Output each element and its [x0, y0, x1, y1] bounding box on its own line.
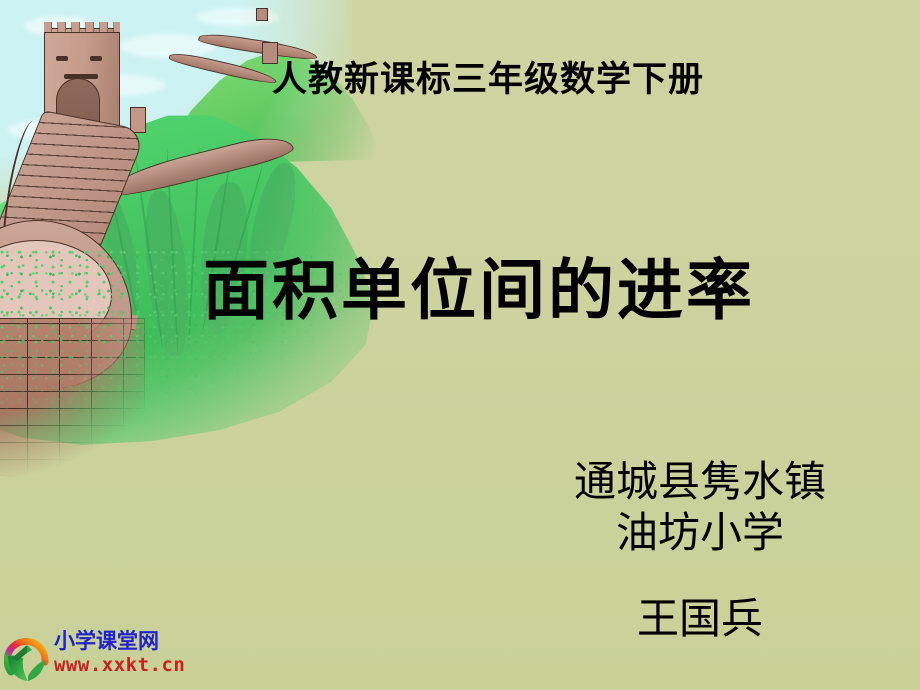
bastion-brick-wall	[0, 318, 145, 478]
watermark-site-name: 小学课堂网	[54, 628, 202, 654]
tower-window	[90, 56, 102, 61]
distant-watchtower	[256, 8, 268, 21]
credits-block: 通城县隽水镇 油坊小学 王国兵	[500, 456, 900, 645]
credit-author-name: 王国兵	[500, 594, 900, 644]
slide-main-title: 面积单位间的进率	[203, 256, 755, 325]
watermark-url: www.xxkt.cn	[54, 654, 202, 677]
course-header-title: 人教新课标三年级数学下册	[272, 62, 704, 99]
watermark-text: 小学课堂网 www.xxkt.cn	[54, 628, 202, 677]
credit-school-name: 油坊小学	[500, 507, 900, 558]
site-watermark: 小学课堂网 www.xxkt.cn	[2, 628, 202, 686]
tower-window	[56, 56, 68, 61]
credit-school-town: 通城县隽水镇	[500, 456, 900, 507]
rainbow-arc-leaf-logo-icon	[4, 630, 52, 682]
presentation-slide: 人教新课标三年级数学下册 面积单位间的进率 通城县隽水镇 油坊小学 王国兵	[0, 0, 920, 690]
tower-battlement-outline	[44, 22, 120, 33]
hill-shading	[139, 188, 194, 359]
